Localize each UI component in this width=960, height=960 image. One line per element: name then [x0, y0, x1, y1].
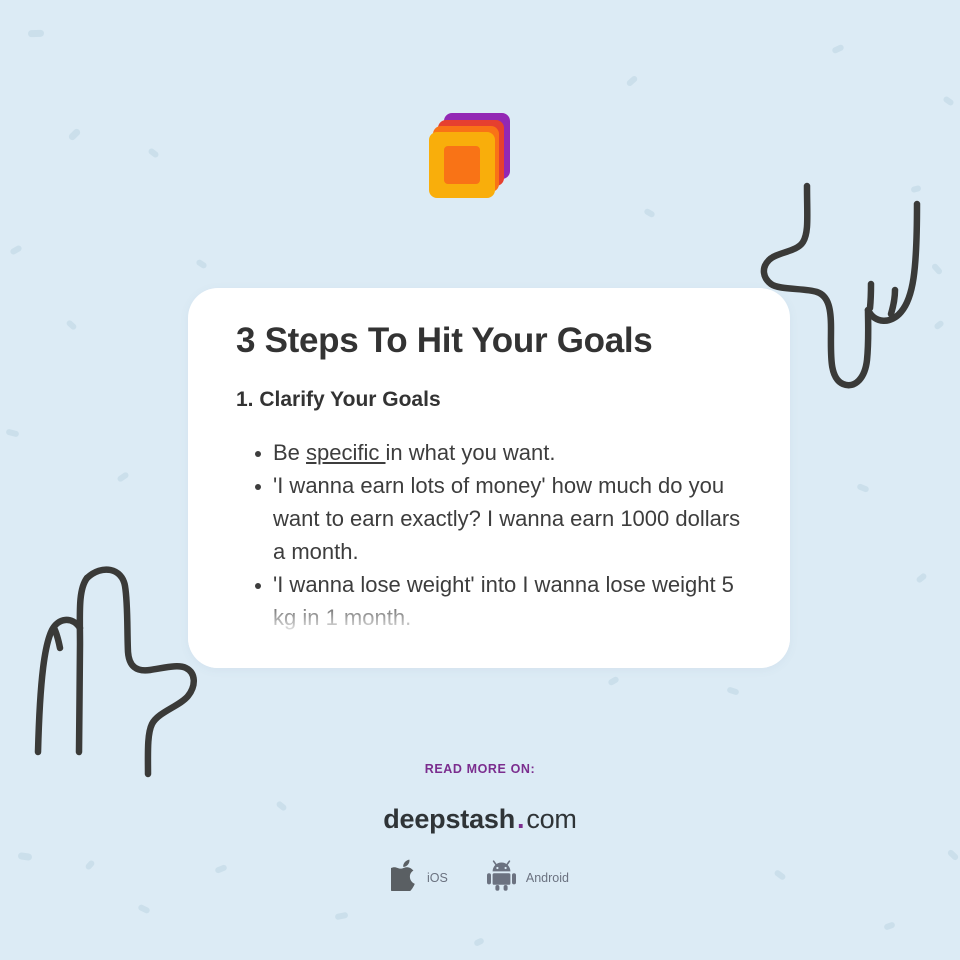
hand-up-palm — [79, 578, 87, 752]
hand-up-knuckle — [38, 620, 80, 752]
hand-up-finger — [54, 628, 60, 648]
android-antenna-right — [507, 861, 509, 864]
bullet-item: 'I wanna earn lots of money' how much do… — [246, 469, 742, 568]
apple-icon — [391, 859, 418, 896]
wordmark-dot: . — [515, 804, 526, 834]
speckle-dash — [831, 44, 844, 55]
android-icon — [486, 860, 517, 896]
speckle-dash — [931, 263, 943, 276]
read-more-label: READ MORE ON: — [0, 762, 960, 776]
android-arm-right — [512, 873, 516, 884]
speckle-dash — [643, 208, 656, 219]
speckle-dash — [626, 75, 639, 87]
android-antenna-left — [493, 861, 495, 864]
bullet-text: Be — [273, 440, 306, 465]
app-store-row: iOS — [0, 859, 960, 896]
android-leg-left — [495, 885, 499, 891]
deepstash-quote-card: 3 Steps To Hit Your Goals 1. Clarify You… — [0, 0, 960, 960]
wordmark-tld: com — [526, 804, 576, 834]
speckle-dash — [473, 937, 485, 947]
bullet-item: 'I wanna lose weight' into I wanna lose … — [246, 568, 742, 634]
speckle-dash — [195, 258, 207, 269]
speckle-dash — [28, 30, 44, 38]
hand-down-thumb — [868, 204, 917, 321]
hand-down-finger-1 — [870, 284, 871, 308]
card-content: 3 Steps To Hit Your Goals 1. Clarify You… — [188, 288, 790, 668]
ios-store-label: iOS — [427, 871, 448, 885]
speckle-dash — [147, 147, 159, 159]
ios-store-badge[interactable]: iOS — [391, 859, 448, 896]
speckle-dash — [116, 471, 129, 483]
hand-down-finger-2 — [891, 290, 895, 314]
footer: READ MORE ON: deepstash.com iOS — [0, 762, 960, 896]
speckle-dash — [883, 921, 895, 930]
android-body — [492, 873, 510, 885]
android-icon-svg — [486, 860, 517, 891]
card-title: 3 Steps To Hit Your Goals — [236, 318, 742, 364]
quote-card: 3 Steps To Hit Your Goals 1. Clarify You… — [188, 288, 790, 668]
android-eye-left — [496, 866, 498, 868]
apple-icon-svg — [391, 859, 418, 891]
bullet-text: 'I wanna earn lots of money' how much do… — [273, 473, 740, 564]
card-subtitle: 1. Clarify Your Goals — [236, 386, 742, 414]
speckle-dash — [933, 320, 945, 331]
android-eye-right — [504, 866, 506, 868]
logo-svg — [428, 104, 518, 198]
speckle-dash — [5, 428, 19, 437]
hand-up-outline — [87, 570, 194, 774]
deepstash-logo — [428, 104, 518, 198]
bullet-list: Be specific in what you want.'I wanna ea… — [236, 436, 742, 634]
speckle-dash — [335, 912, 349, 921]
speckle-dash — [137, 904, 150, 915]
speckle-dash — [856, 483, 869, 493]
android-store-label: Android — [526, 871, 569, 885]
android-store-badge[interactable]: Android — [486, 860, 569, 896]
android-leg-right — [503, 885, 507, 891]
speckle-dash — [607, 676, 620, 687]
speckle-dash — [942, 95, 954, 106]
speckle-dash — [726, 686, 739, 695]
speckle-dash — [915, 572, 927, 584]
bullet-emphasis: specific — [306, 440, 385, 465]
speckle-dash — [910, 185, 921, 193]
wordmark-brand: deepstash — [383, 804, 515, 834]
speckle-dash — [9, 244, 22, 255]
bullet-text: 'I wanna lose weight' into I wanna lose … — [273, 572, 734, 630]
deepstash-wordmark[interactable]: deepstash.com — [0, 804, 960, 835]
bullet-item: Be specific in what you want. — [246, 436, 742, 469]
speckle-dash — [65, 319, 77, 331]
bullet-text: in what you want. — [386, 440, 556, 465]
speckle-dash — [67, 127, 81, 141]
android-arm-left — [487, 873, 491, 884]
